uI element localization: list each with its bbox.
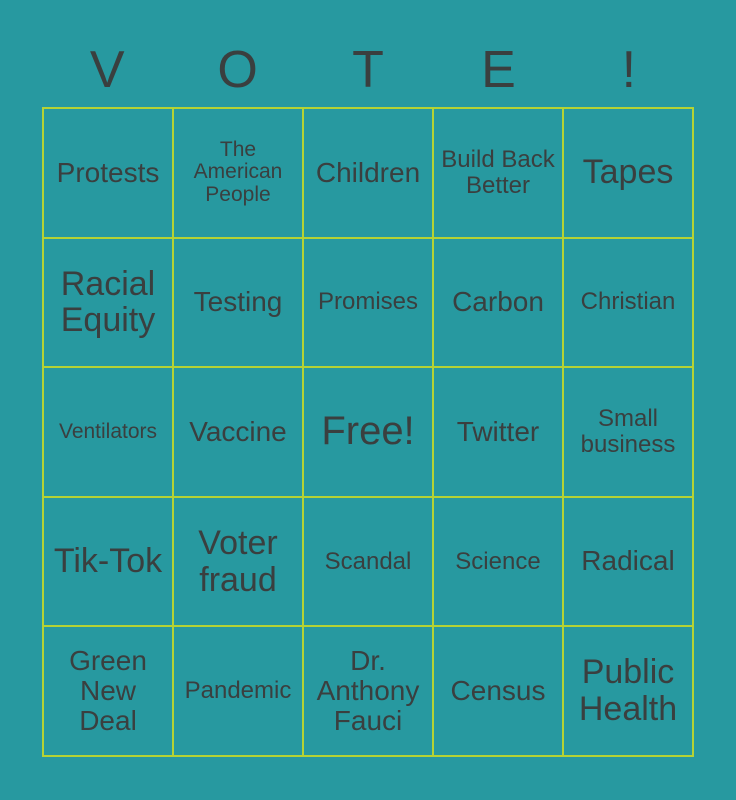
- bingo-cell[interactable]: Carbon: [434, 239, 564, 369]
- bingo-free-cell[interactable]: Free!: [304, 368, 434, 498]
- bingo-cell-label: Testing: [178, 287, 298, 317]
- bingo-cell[interactable]: Radical: [564, 498, 694, 628]
- bingo-cell-label: Build Back Better: [438, 147, 558, 199]
- bingo-cell[interactable]: The American People: [174, 109, 304, 239]
- bingo-cell[interactable]: Vaccine: [174, 368, 304, 498]
- bingo-cell[interactable]: Pandemic: [174, 627, 304, 757]
- bingo-header-letter-0: V: [42, 32, 172, 107]
- bingo-cell-label: Voter fraud: [178, 525, 298, 598]
- bingo-header-letter-4: !: [564, 32, 694, 107]
- bingo-cell[interactable]: Twitter: [434, 368, 564, 498]
- bingo-cell-label: Vaccine: [178, 417, 298, 447]
- bingo-cell-label: Science: [438, 549, 558, 575]
- bingo-cell-label: Radical: [568, 546, 688, 576]
- bingo-card: VOTE! ProtestsThe American PeopleChildre…: [0, 0, 736, 800]
- bingo-cell-label: Small business: [568, 406, 688, 458]
- bingo-cell[interactable]: Census: [434, 627, 564, 757]
- bingo-cell[interactable]: Tapes: [564, 109, 694, 239]
- bingo-cell[interactable]: Voter fraud: [174, 498, 304, 628]
- bingo-cell-label: Carbon: [438, 287, 558, 317]
- bingo-cell-label: Dr. Anthony Fauci: [308, 646, 428, 737]
- bingo-cell[interactable]: Scandal: [304, 498, 434, 628]
- bingo-cell[interactable]: Science: [434, 498, 564, 628]
- bingo-cell-label: Ventilators: [48, 421, 168, 444]
- bingo-cell-label: Protests: [48, 158, 168, 188]
- bingo-cell[interactable]: Tik-Tok: [44, 498, 174, 628]
- bingo-header-letter-3: E: [433, 32, 563, 107]
- bingo-cell[interactable]: Protests: [44, 109, 174, 239]
- bingo-cell-label: Public Health: [568, 654, 688, 727]
- bingo-cell-label: The American People: [178, 139, 298, 207]
- bingo-cell-label: Green New Deal: [48, 646, 168, 737]
- bingo-cell[interactable]: Children: [304, 109, 434, 239]
- bingo-header-letter-1: O: [172, 32, 302, 107]
- bingo-cell[interactable]: Christian: [564, 239, 694, 369]
- bingo-cell-label: Christian: [568, 289, 688, 315]
- bingo-cell-label: Census: [438, 676, 558, 706]
- bingo-cell-label: Twitter: [438, 417, 558, 447]
- bingo-header: VOTE!: [42, 32, 694, 107]
- bingo-cell[interactable]: Green New Deal: [44, 627, 174, 757]
- bingo-cell-label: Children: [308, 158, 428, 188]
- bingo-cell-label: Tapes: [568, 154, 688, 191]
- bingo-cell[interactable]: Dr. Anthony Fauci: [304, 627, 434, 757]
- bingo-cell-label: Racial Equity: [48, 266, 168, 339]
- bingo-cell-label: Tik-Tok: [48, 543, 168, 580]
- bingo-cell-label: Free!: [308, 410, 428, 453]
- bingo-header-letter-2: T: [303, 32, 433, 107]
- bingo-cell-label: Scandal: [308, 549, 428, 575]
- bingo-cell[interactable]: Racial Equity: [44, 239, 174, 369]
- bingo-cell[interactable]: Build Back Better: [434, 109, 564, 239]
- bingo-grid: ProtestsThe American PeopleChildrenBuild…: [42, 107, 694, 757]
- bingo-cell[interactable]: Public Health: [564, 627, 694, 757]
- bingo-cell-label: Promises: [308, 289, 428, 315]
- bingo-cell[interactable]: Small business: [564, 368, 694, 498]
- bingo-cell[interactable]: Testing: [174, 239, 304, 369]
- bingo-cell[interactable]: Ventilators: [44, 368, 174, 498]
- bingo-cell-label: Pandemic: [178, 678, 298, 704]
- bingo-cell[interactable]: Promises: [304, 239, 434, 369]
